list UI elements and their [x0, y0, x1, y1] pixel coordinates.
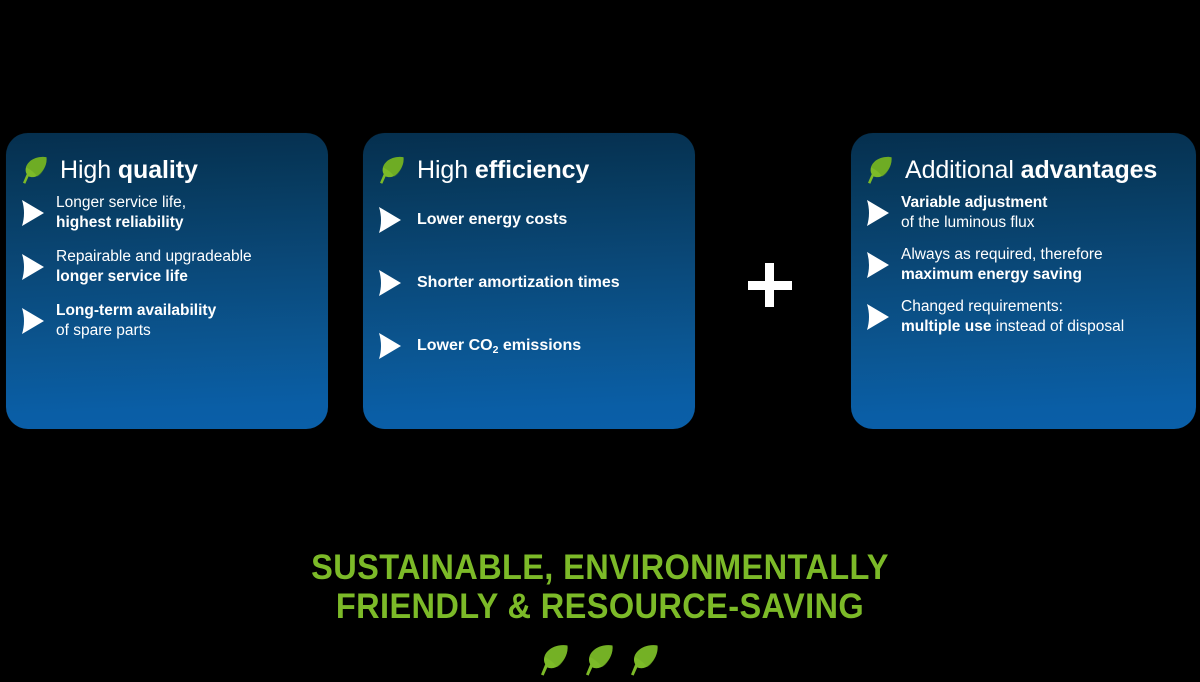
leaf-icon [584, 643, 616, 682]
card-header: High efficiency [363, 133, 695, 187]
card-additional-advantages[interactable]: Additional advantages Variable adjustmen… [851, 133, 1196, 429]
line-2-bold: multiple use [901, 318, 991, 335]
list-item-text: Changed requirements: multiple use inste… [901, 297, 1124, 337]
list-item-text: Long-term availability of spare parts [56, 301, 216, 341]
line-2: of spare parts [56, 322, 151, 339]
co2-subscript: 2 [493, 344, 499, 356]
plus-icon [748, 263, 792, 307]
leaf-icon [377, 155, 407, 185]
line-1: Always as required, therefore [901, 246, 1103, 263]
bullet-list: Longer service life, highest reliability… [6, 187, 328, 341]
card-title-light: Additional [905, 156, 1014, 184]
triangle-right-icon [865, 198, 891, 228]
list-item[interactable]: Lower energy costs [377, 205, 685, 235]
line-1: Repairable and upgradeable [56, 248, 252, 265]
card-title-light: High [60, 156, 111, 184]
line-1: Longer service life, [56, 194, 186, 211]
list-item[interactable]: Shorter amortization times [377, 268, 685, 298]
leaf-icon [865, 155, 895, 185]
card-title-bold: quality [118, 156, 198, 184]
list-item[interactable]: Longer service life, highest reliability [20, 193, 318, 233]
triangle-right-icon [865, 250, 891, 280]
list-item-text: Lower CO2 emissions [413, 336, 581, 357]
leaf-icon [539, 643, 571, 682]
card-high-efficiency[interactable]: High efficiency Lower energy costs [363, 133, 695, 429]
headline-line-2: FRIENDLY & RESOURCE-SAVING [42, 587, 1158, 626]
card-title: Additional advantages [905, 156, 1157, 184]
card-header: High quality [6, 133, 328, 187]
list-item-text: Lower energy costs [413, 210, 567, 230]
list-item-text: Shorter amortization times [413, 273, 620, 293]
card-title-light: High [417, 156, 468, 184]
triangle-right-icon [20, 306, 46, 336]
headline: SUSTAINABLE, ENVIRONMENTALLY FRIENDLY & … [42, 548, 1158, 626]
line-1: Variable adjustment [901, 194, 1047, 211]
cards-row: High quality Longer service life, highes… [0, 0, 1200, 450]
list-item[interactable]: Long-term availability of spare parts [20, 301, 318, 341]
list-item[interactable]: Changed requirements: multiple use inste… [865, 297, 1192, 337]
list-item[interactable]: Lower CO2 emissions [377, 331, 685, 361]
leaf-icon [20, 155, 50, 185]
list-item[interactable]: Repairable and upgradeable longer servic… [20, 247, 318, 287]
card-title: High quality [60, 156, 198, 184]
list-item-text: Variable adjustment of the luminous flux [901, 193, 1047, 233]
co2-prefix: Lower CO [417, 337, 493, 354]
line-1: Changed requirements: [901, 298, 1063, 315]
card-title-bold: advantages [1021, 156, 1158, 184]
plus-vertical-bar [765, 263, 774, 307]
headline-line-1: SUSTAINABLE, ENVIRONMENTALLY [42, 548, 1158, 587]
line-2: highest reliability [56, 214, 183, 231]
triangle-right-icon [20, 198, 46, 228]
list-item-text: Repairable and upgradeable longer servic… [56, 247, 252, 287]
triangle-right-icon [20, 252, 46, 282]
card-header: Additional advantages [851, 133, 1196, 187]
co2-suffix: emissions [498, 337, 581, 354]
line-2: maximum energy saving [901, 266, 1082, 283]
triangle-right-icon [865, 302, 891, 332]
bullet-list: Variable adjustment of the luminous flux… [851, 187, 1196, 337]
leaf-icon [629, 643, 661, 682]
list-item[interactable]: Always as required, therefore maximum en… [865, 245, 1192, 285]
list-item[interactable]: Variable adjustment of the luminous flux [865, 193, 1192, 233]
bottom-leaf-row [0, 643, 1200, 682]
triangle-right-icon [377, 331, 403, 361]
line-2: longer service life [56, 268, 188, 285]
card-high-quality[interactable]: High quality Longer service life, highes… [6, 133, 328, 429]
list-item-text: Longer service life, highest reliability [56, 193, 186, 233]
line-1: Long-term availability [56, 302, 216, 319]
triangle-right-icon [377, 268, 403, 298]
bullet-list: Lower energy costs Shorter amortization … [363, 187, 695, 361]
card-title: High efficiency [417, 156, 589, 184]
line-2: of the luminous flux [901, 214, 1035, 231]
list-item-text: Always as required, therefore maximum en… [901, 245, 1103, 285]
card-title-bold: efficiency [475, 156, 589, 184]
line-2-light: instead of disposal [991, 318, 1124, 335]
triangle-right-icon [377, 205, 403, 235]
